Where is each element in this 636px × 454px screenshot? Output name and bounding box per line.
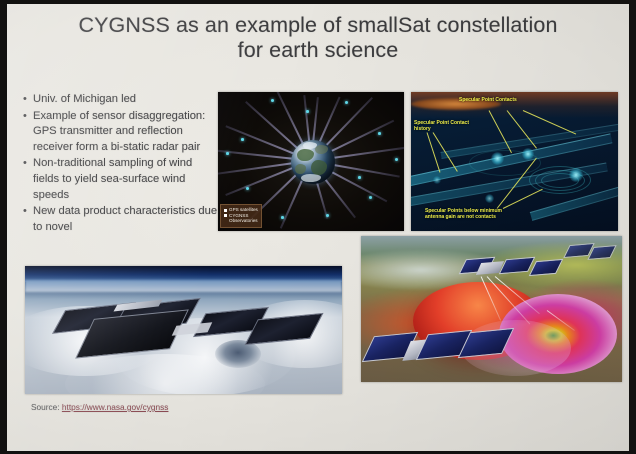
source-line: Source: https://www.nasa.gov/cygnss bbox=[31, 402, 168, 412]
frame-edge-top bbox=[0, 0, 636, 4]
bullet-marker-icon: • bbox=[23, 204, 33, 235]
source-link[interactable]: https://www.nasa.gov/cygnss bbox=[62, 402, 169, 412]
list-item: • Univ. of Michigan led bbox=[23, 92, 219, 108]
constellation-image: GPS satellites CYGNSS Observatories bbox=[218, 92, 404, 231]
earth-globe-icon bbox=[291, 140, 335, 184]
observatory-image bbox=[25, 266, 342, 394]
bullet-marker-icon: • bbox=[23, 109, 33, 156]
frame-edge-left bbox=[0, 0, 7, 454]
annotation-specular-contacts: Specular Point Contacts bbox=[459, 97, 517, 103]
bullet-marker-icon: • bbox=[23, 156, 33, 203]
page-title: CYGNSS as an example of smallSat constel… bbox=[7, 13, 629, 63]
slide-surface: CYGNSS as an example of smallSat constel… bbox=[7, 4, 629, 451]
legend-swatch-icon bbox=[224, 214, 227, 217]
specular-point-image: Specular Point Contacts Specular Point C… bbox=[411, 92, 618, 231]
annotation-contact-history: Specular Point Contact history bbox=[414, 120, 486, 132]
source-label: Source: bbox=[31, 402, 60, 412]
bullet-list: • Univ. of Michigan led • Example of sen… bbox=[23, 92, 219, 236]
legend-swatch-icon bbox=[224, 209, 227, 212]
frame-edge-right bbox=[629, 0, 636, 454]
bullet-text: New data product characteristics due to … bbox=[33, 204, 219, 235]
list-item: • Example of sensor disaggregation: GPS … bbox=[23, 109, 219, 156]
windfield-image bbox=[361, 236, 622, 382]
title-line-2: for earth science bbox=[7, 38, 629, 63]
title-line-1: CYGNSS as an example of smallSat constel… bbox=[78, 13, 557, 37]
list-item: • Non-traditional sampling of wind field… bbox=[23, 156, 219, 203]
photographed-slide-frame: CYGNSS as an example of smallSat constel… bbox=[0, 0, 636, 454]
list-item: • New data product characteristics due t… bbox=[23, 204, 219, 235]
legend-item-cygnss-2: Observatories bbox=[224, 218, 258, 224]
bullet-marker-icon: • bbox=[23, 92, 33, 108]
bullet-text: Non-traditional sampling of wind fields … bbox=[33, 156, 219, 203]
bullet-text: Univ. of Michigan led bbox=[33, 92, 136, 108]
annotation-below-gain: Specular Points below minimum antenna ga… bbox=[425, 208, 511, 220]
constellation-legend: GPS satellites CYGNSS Observatories bbox=[220, 204, 262, 228]
bullet-text: Example of sensor disaggregation: GPS tr… bbox=[33, 109, 219, 156]
